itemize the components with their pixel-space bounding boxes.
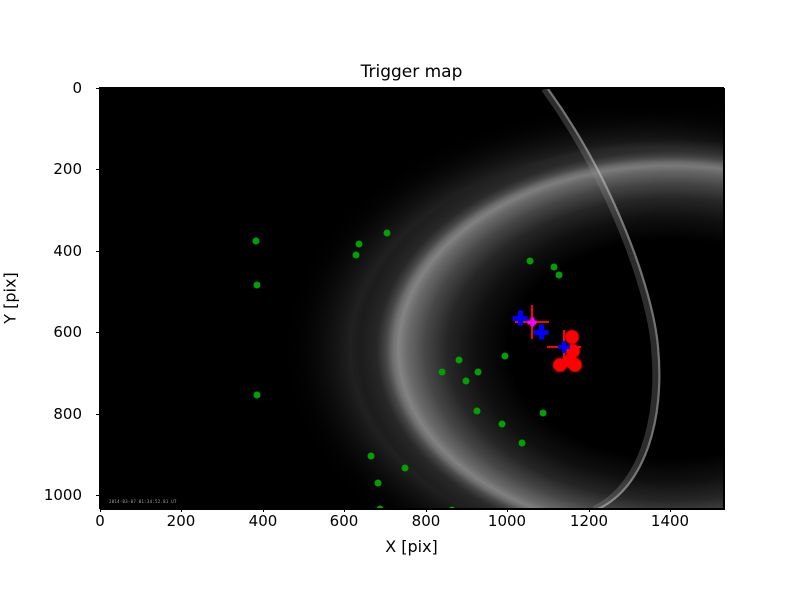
plot-area[interactable]: 2014-03-07 01:34:52.81 UT	[100, 88, 725, 510]
page-title: Trigger map	[100, 62, 723, 82]
detection-marker[interactable]	[463, 378, 470, 385]
ytick-mark	[96, 495, 100, 496]
ytick-label: 400	[53, 242, 82, 260]
xtick-label: 1000	[488, 512, 526, 530]
xtick-label: 400	[249, 512, 278, 530]
ytick-label: 600	[53, 323, 82, 341]
detection-marker[interactable]	[519, 440, 526, 447]
detection-marker[interactable]	[356, 241, 363, 248]
detection-marker[interactable]	[502, 353, 509, 360]
xtick-label: 200	[167, 512, 196, 530]
xtick-label: 1400	[651, 512, 689, 530]
detection-marker[interactable]	[475, 369, 482, 376]
x-axis-label: X [pix]	[100, 537, 723, 556]
detection-marker[interactable]	[551, 264, 558, 271]
detection-marker[interactable]	[368, 453, 375, 460]
xtick-label: 0	[95, 512, 105, 530]
figure-canvas: Trigger map	[0, 0, 800, 600]
detection-marker[interactable]	[556, 272, 563, 279]
ytick-label: 200	[53, 160, 82, 178]
ytick-mark	[96, 88, 100, 89]
detection-marker[interactable]	[474, 408, 481, 415]
ytick-mark	[96, 169, 100, 170]
y-axis-label: Y [pix]	[1, 272, 20, 323]
detection-marker[interactable]	[353, 252, 360, 259]
detection-marker[interactable]	[402, 465, 409, 472]
detection-marker[interactable]	[254, 392, 261, 399]
ytick-label: 1000	[44, 486, 82, 504]
xtick-label: 1200	[570, 512, 608, 530]
xtick-label: 600	[330, 512, 359, 530]
image-timestamp-stamp: 2014-03-07 01:34:52.81 UT	[109, 498, 177, 504]
background-image: 2014-03-07 01:34:52.81 UT	[101, 89, 724, 509]
detection-marker[interactable]	[253, 238, 260, 245]
ytick-mark	[96, 332, 100, 333]
detection-marker[interactable]	[377, 506, 384, 511]
detection-marker[interactable]	[439, 369, 446, 376]
trigger-marker[interactable]	[564, 355, 577, 368]
ytick-mark	[96, 251, 100, 252]
detection-marker[interactable]	[456, 357, 463, 364]
trigger-marker[interactable]	[566, 331, 579, 344]
xtick-label: 800	[412, 512, 441, 530]
detection-marker[interactable]	[375, 480, 382, 487]
detection-marker[interactable]	[540, 410, 547, 417]
ytick-label: 0	[72, 79, 82, 97]
ytick-label: 800	[53, 405, 82, 423]
detection-marker[interactable]	[449, 507, 456, 511]
detection-marker[interactable]	[384, 230, 391, 237]
ytick-mark	[96, 414, 100, 415]
detection-marker[interactable]	[499, 421, 506, 428]
detection-marker[interactable]	[527, 258, 534, 265]
detection-marker[interactable]	[254, 282, 261, 289]
